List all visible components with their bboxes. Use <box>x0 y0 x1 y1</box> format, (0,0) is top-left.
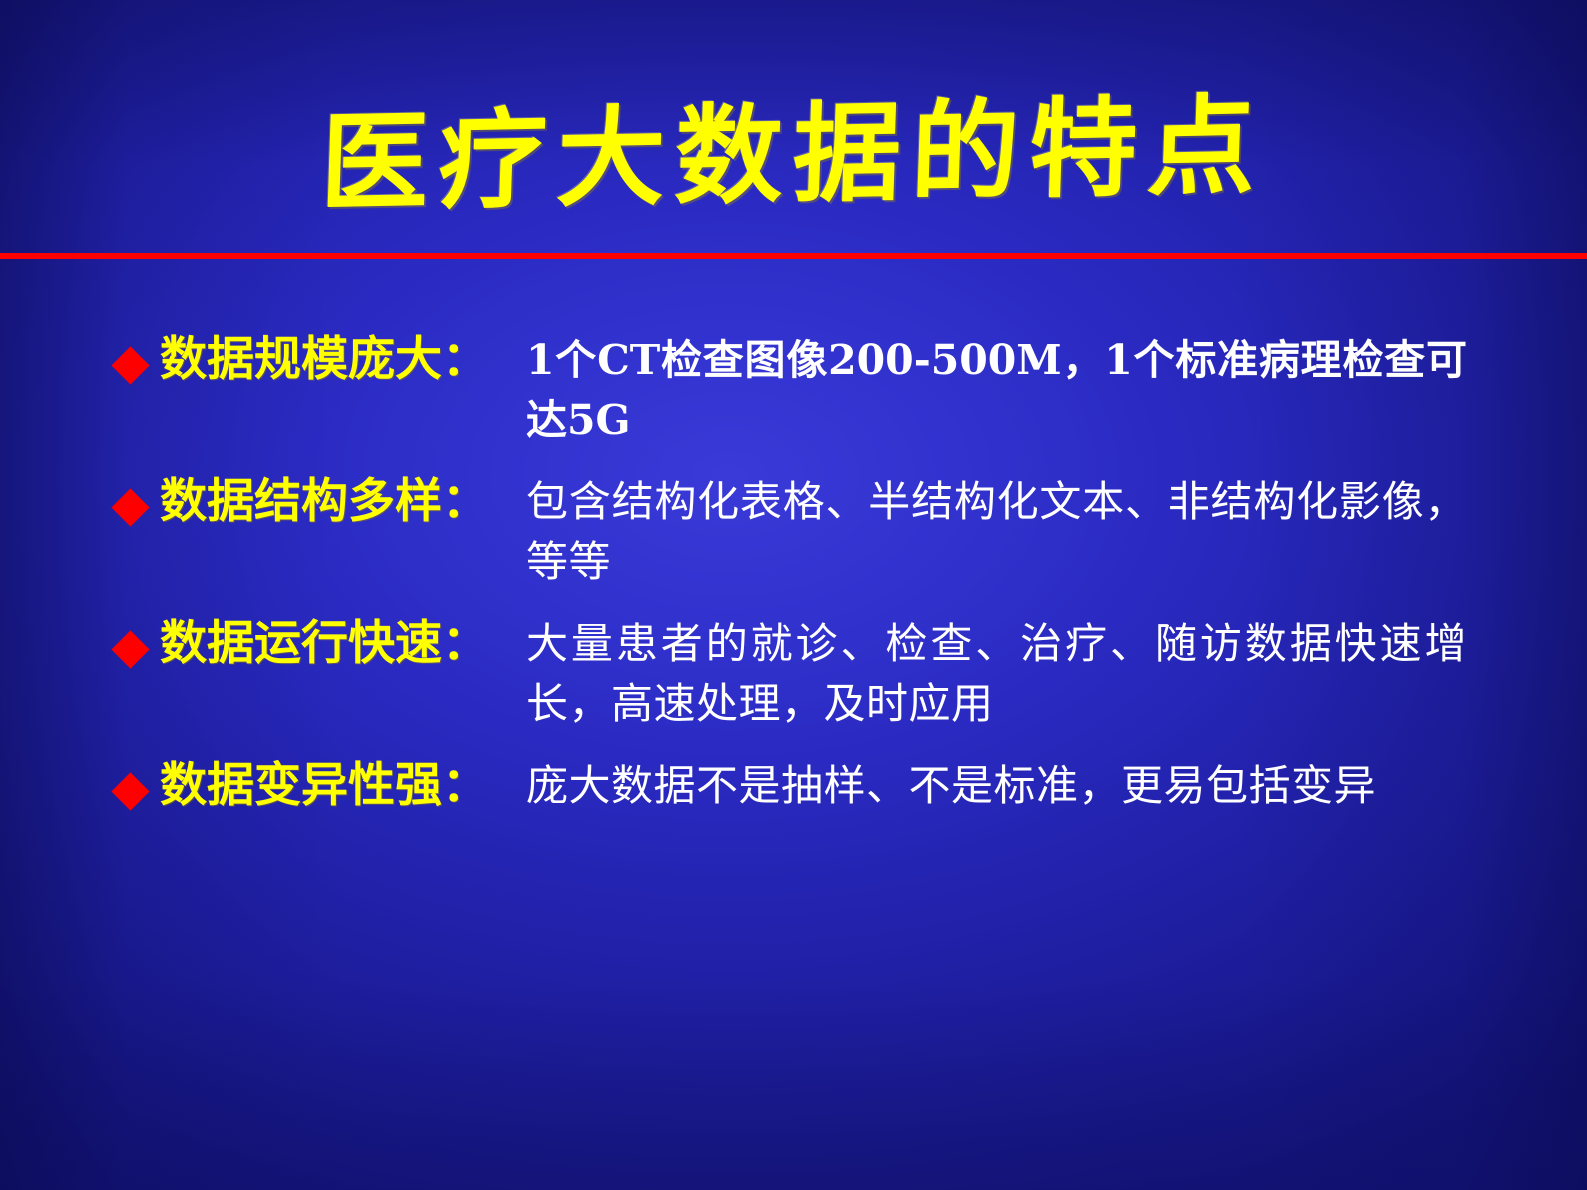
bullet-item: 数据运行快速： 大量患者的就诊、检查、治疗、随访数据快速增长，高速处理，及时应用 <box>0 614 1587 734</box>
bullet-item: 数据变异性强： 庞大数据不是抽样、不是标准，更易包括变异 <box>0 756 1587 816</box>
diamond-icon <box>111 488 149 526</box>
bullet-marker-2 <box>100 472 160 521</box>
diamond-icon <box>111 346 149 384</box>
presentation-slide: 医疗大数据的特点 数据规模庞大： 1个CT检查图像200-500M，1个标准病理… <box>0 0 1587 1190</box>
bullet-marker-3 <box>100 614 160 663</box>
bullet-text-2: 包含结构化表格、半结构化文本、非结构化影像，等等 <box>526 472 1467 592</box>
title-divider-line <box>0 253 1587 259</box>
bullet-item: 数据结构多样： 包含结构化表格、半结构化文本、非结构化影像，等等 <box>0 472 1587 592</box>
diamond-icon <box>111 772 149 810</box>
diamond-icon <box>111 630 149 668</box>
bullet-body-3: 数据运行快速： 大量患者的就诊、检查、治疗、随访数据快速增长，高速处理，及时应用 <box>160 614 1587 734</box>
bullet-body-4: 数据变异性强： 庞大数据不是抽样、不是标准，更易包括变异 <box>160 756 1587 816</box>
bullet-body-1: 数据规模庞大： 1个CT检查图像200-500M，1个标准病理检查可达5G <box>160 330 1587 450</box>
bullet-body-2: 数据结构多样： 包含结构化表格、半结构化文本、非结构化影像，等等 <box>160 472 1587 592</box>
bullet-text-1: 1个CT检查图像200-500M，1个标准病理检查可达5G <box>526 330 1467 450</box>
title-area: 医疗大数据的特点 <box>0 70 1587 240</box>
bullet-label-3: 数据运行快速： <box>160 614 526 674</box>
bullet-marker-1 <box>100 330 160 379</box>
bullet-label-2: 数据结构多样： <box>160 472 526 532</box>
bullet-marker-4 <box>100 756 160 805</box>
bullet-item: 数据规模庞大： 1个CT检查图像200-500M，1个标准病理检查可达5G <box>0 330 1587 450</box>
bullet-label-1: 数据规模庞大： <box>160 330 526 390</box>
bullet-text-3: 大量患者的就诊、检查、治疗、随访数据快速增长，高速处理，及时应用 <box>526 614 1467 734</box>
bullet-label-4: 数据变异性强： <box>160 756 526 816</box>
slide-title: 医疗大数据的特点 <box>319 92 1267 218</box>
bullet-text-4: 庞大数据不是抽样、不是标准，更易包括变异 <box>526 756 1467 816</box>
bullet-list: 数据规模庞大： 1个CT检查图像200-500M，1个标准病理检查可达5G 数据… <box>0 330 1587 838</box>
